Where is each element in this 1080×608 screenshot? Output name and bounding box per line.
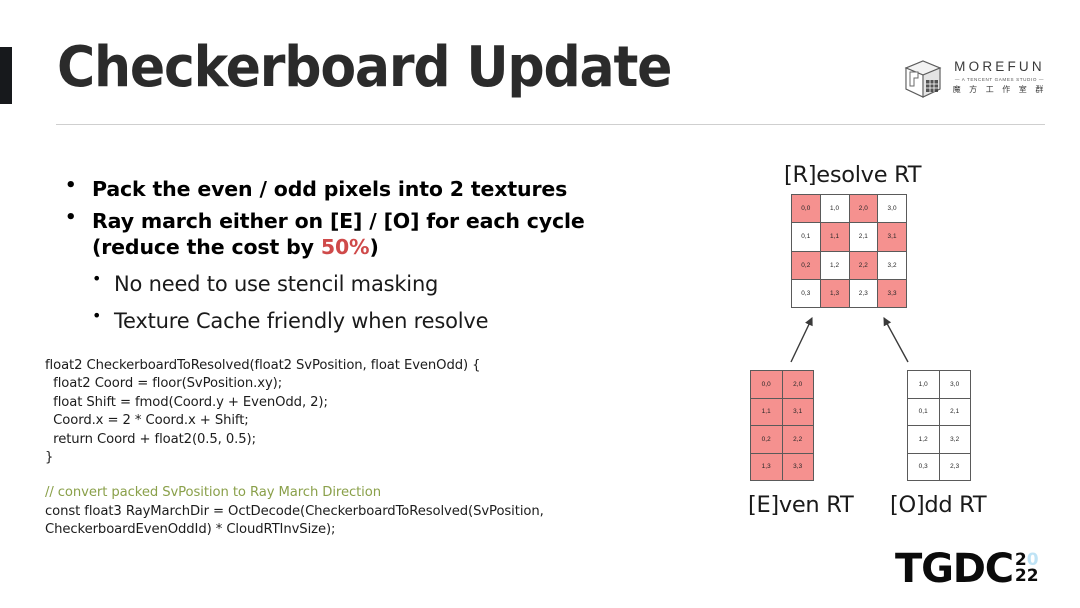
tgdc-wordmark: TGDC: [895, 549, 1013, 589]
diagram-arrows: [0, 0, 1080, 608]
arrow-odd-to-resolve: [884, 318, 908, 362]
tgdc-logo: TGDC 20 22: [895, 549, 1039, 589]
arrow-even-to-resolve: [791, 318, 812, 362]
tgdc-year-bottom: 22: [1015, 569, 1039, 585]
tgdc-year: 20 22: [1015, 553, 1039, 584]
